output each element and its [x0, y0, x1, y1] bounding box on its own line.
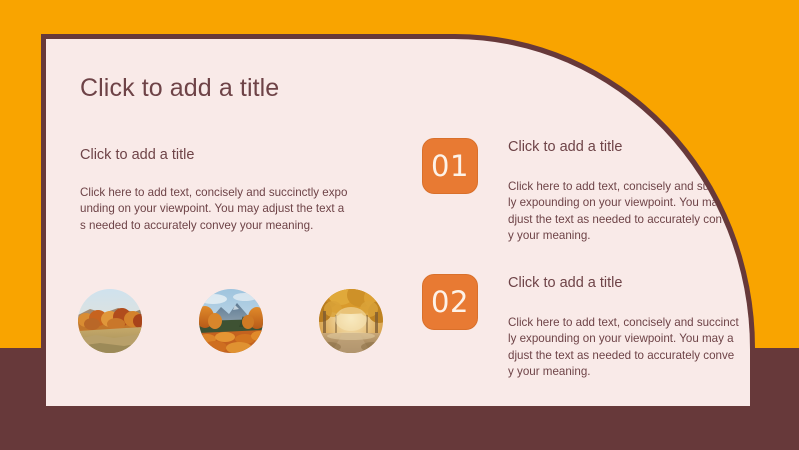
autumn-mountain-photo[interactable] [199, 289, 263, 353]
item-number-badge[interactable]: 01 [422, 138, 478, 194]
slide-canvas: Click to add a title Click to add a titl… [0, 0, 799, 450]
photo-row [78, 289, 398, 365]
item-title[interactable]: Click to add a title [508, 138, 740, 156]
item-number-badge[interactable]: 02 [422, 274, 478, 330]
left-column: Click to add a title Click here to add t… [80, 146, 348, 234]
autumn-hillside-photo[interactable] [78, 289, 142, 353]
page-title[interactable]: Click to add a title [80, 74, 279, 103]
left-body-text[interactable]: Click here to add text, concisely and su… [80, 185, 348, 234]
autumn-road-photo[interactable] [319, 289, 383, 353]
item-text-block: Click to add a title Click here to add t… [508, 138, 740, 245]
item-body-text[interactable]: Click here to add text, concisely and su… [508, 179, 740, 245]
item-body-text[interactable]: Click here to add text, concisely and su… [508, 315, 740, 381]
item-title[interactable]: Click to add a title [508, 274, 740, 292]
left-sub-title[interactable]: Click to add a title [80, 146, 348, 164]
item-text-block: Click to add a title Click here to add t… [508, 274, 740, 381]
